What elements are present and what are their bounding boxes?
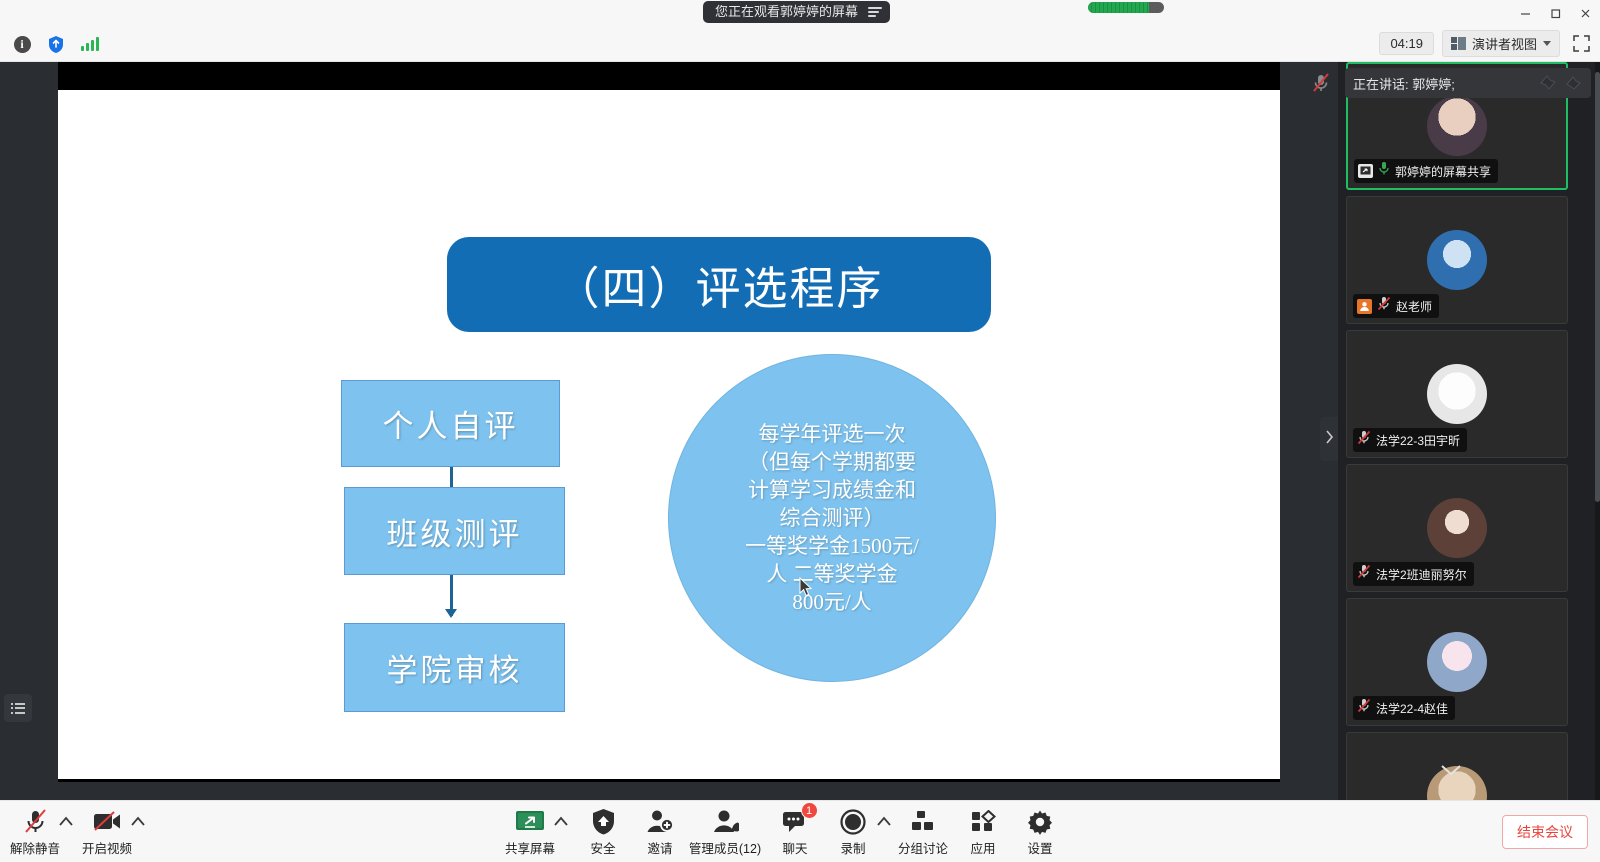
speaking-now-banner: 正在讲话: 郭婷婷;	[1345, 68, 1591, 98]
mic-muted-icon	[1311, 72, 1331, 99]
fullscreen-icon[interactable]	[1568, 31, 1594, 57]
mic-muted-icon	[1357, 430, 1371, 450]
chevron-up-icon	[553, 808, 569, 835]
scholarship-info-text: 每学年评选一次 （但每个学期都要 计算学习成绩金和 综合测评） 一等奖学金150…	[727, 420, 937, 616]
mic-icon	[1378, 161, 1390, 181]
toolbar-button-label: 聊天	[782, 838, 807, 857]
toolbar-button-label: 分组讨论	[898, 838, 948, 857]
presentation-slide: （四）评选程序 个人自评 班级测评 学院审核 每学年评选一次 （但每个学期都要 …	[58, 90, 1280, 779]
participant-name: 郭婷婷的屏幕共享	[1395, 163, 1491, 180]
host-icon	[1357, 299, 1372, 314]
avatar	[1427, 498, 1487, 558]
participant-name: 法学22-3田宇昕	[1376, 432, 1460, 449]
pin-icon[interactable]	[1538, 72, 1558, 95]
participant-tile[interactable]: 法学22-4赵佳	[1346, 598, 1568, 726]
watching-screen-pill[interactable]: 您正在观看郭婷婷的屏幕	[703, 1, 890, 23]
participant-name: 法学22-4赵佳	[1376, 700, 1448, 717]
toolbar-button-invite-person[interactable]: 邀请	[625, 808, 695, 857]
view-mode-button[interactable]: 演讲者视图	[1442, 30, 1560, 57]
mic-muted-icon	[1357, 564, 1371, 584]
screen-share-icon	[1358, 164, 1373, 178]
speaking-now-label: 正在讲话: 郭婷婷;	[1353, 74, 1455, 93]
chevron-down-icon[interactable]	[1543, 41, 1551, 46]
participant-name-bar: 法学22-4赵佳	[1353, 696, 1455, 720]
window-titlebar: 您正在观看郭婷婷的屏幕	[0, 0, 1600, 26]
shield-security-icon[interactable]	[42, 30, 70, 58]
scholarship-info-circle: 每学年评选一次 （但每个学期都要 计算学习成绩金和 综合测评） 一等奖学金150…	[668, 354, 996, 682]
flow-step-1: 个人自评	[341, 380, 560, 467]
scroll-down-button[interactable]	[1440, 764, 1462, 782]
flow-step-3: 学院审核	[344, 623, 565, 712]
chat-unread-badge: 1	[801, 802, 818, 819]
breakout-rooms-icon	[910, 808, 937, 835]
close-icon[interactable]	[1570, 0, 1600, 26]
shared-content-frame: （四）评选程序 个人自评 班级测评 学院审核 每学年评选一次 （但每个学期都要 …	[58, 62, 1280, 782]
avatar	[1427, 632, 1487, 692]
toolbar-button-label: 设置	[1027, 838, 1052, 857]
share-screen-icon	[515, 808, 545, 835]
watching-screen-label: 您正在观看郭婷婷的屏幕	[715, 1, 858, 23]
participant-tile[interactable]: 赵老师	[1346, 196, 1568, 324]
minimize-icon[interactable]	[1510, 0, 1540, 26]
flow-step-2: 班级测评	[344, 487, 565, 575]
view-mode-label: 演讲者视图	[1472, 34, 1537, 53]
participant-name: 赵老师	[1396, 298, 1432, 315]
toolbar-button-label: 共享屏幕	[505, 838, 555, 857]
zoom-meeting-window: 您正在观看郭婷婷的屏幕 i	[0, 0, 1600, 862]
chat-icon: 1	[782, 808, 809, 835]
participant-name: 法学2班迪丽努尔	[1376, 566, 1467, 583]
toolbar-button-label: 邀请	[647, 838, 672, 857]
toolbar-button-label: 录制	[840, 838, 865, 857]
participant-name-bar: 法学2班迪丽努尔	[1353, 562, 1474, 586]
record-icon	[840, 808, 866, 835]
hamburger-icon[interactable]	[868, 6, 882, 18]
chevron-down-icon	[1440, 764, 1462, 781]
filmstrip-scrollbar[interactable]	[1595, 62, 1600, 800]
network-signal-icon[interactable]	[76, 30, 104, 58]
participant-name-bar: 法学22-3田宇昕	[1353, 428, 1467, 452]
chevron-right-icon	[1325, 430, 1334, 449]
end-meeting-button[interactable]: 结束会议	[1502, 815, 1588, 849]
filmstrip-scroll[interactable]: 郭婷婷的屏幕共享赵老师法学22-3田宇昕法学2班迪丽努尔法学22-4赵佳	[1342, 62, 1600, 800]
avatar	[1427, 96, 1487, 156]
participants-filmstrip: 郭婷婷的屏幕共享赵老师法学22-3田宇昕法学2班迪丽努尔法学22-4赵佳	[1338, 62, 1600, 800]
collapse-panel-button[interactable]	[1320, 417, 1338, 461]
participant-name-bar: 郭婷婷的屏幕共享	[1354, 159, 1498, 183]
chevron-up-icon	[130, 808, 146, 835]
toolbar-button-label: 解除静音	[10, 838, 60, 857]
audio-level-meter	[1088, 2, 1164, 13]
video-off-icon	[92, 808, 122, 835]
participant-tile[interactable]: 法学22-3田宇昕	[1346, 330, 1568, 458]
avatar	[1427, 364, 1487, 424]
annotation-list-icon[interactable]	[4, 694, 32, 722]
meeting-timer: 04:19	[1379, 32, 1434, 55]
toolbar-button-label: 管理成员(12)	[689, 838, 761, 857]
speaker-view-icon	[1451, 37, 1466, 50]
mouse-cursor	[799, 577, 813, 602]
toolbar-button-settings-gear[interactable]: 设置	[1005, 808, 1075, 857]
toolbar-button-label: 开启视频	[82, 838, 132, 857]
security-shield-icon	[591, 808, 616, 835]
maximize-icon[interactable]	[1540, 0, 1570, 26]
window-controls	[1510, 0, 1600, 26]
toolbar-caret-video-off[interactable]	[127, 808, 149, 835]
toolbar-button-participants[interactable]: 管理成员(12)	[690, 808, 760, 857]
participant-name-bar: 赵老师	[1353, 294, 1439, 318]
apps-icon	[970, 808, 997, 835]
meeting-info-bar: i 04:19 演讲者视图	[0, 26, 1600, 62]
invite-person-icon	[646, 808, 674, 835]
mic-muted-icon	[1357, 698, 1371, 718]
participants-icon	[711, 808, 739, 835]
participant-tile[interactable]: 法学2班迪丽努尔	[1346, 464, 1568, 592]
flow-arrow-head-2	[445, 609, 457, 618]
reaction-icon[interactable]	[1563, 72, 1583, 95]
settings-gear-icon	[1027, 808, 1053, 835]
info-icon[interactable]: i	[8, 30, 36, 58]
shared-screen-stage: （四）评选程序 个人自评 班级测评 学院审核 每学年评选一次 （但每个学期都要 …	[0, 62, 1338, 800]
meeting-toolbar: 解除静音开启视频共享屏幕安全邀请管理成员(12)1聊天录制分组讨论应用设置 结束…	[0, 800, 1600, 862]
mic-muted-icon	[1377, 296, 1391, 316]
mic-muted-icon	[22, 808, 49, 835]
toolbar-button-label: 安全	[590, 838, 615, 857]
avatar	[1427, 230, 1487, 290]
toolbar-button-label: 应用	[970, 838, 995, 857]
slide-title: （四）评选程序	[447, 237, 991, 332]
